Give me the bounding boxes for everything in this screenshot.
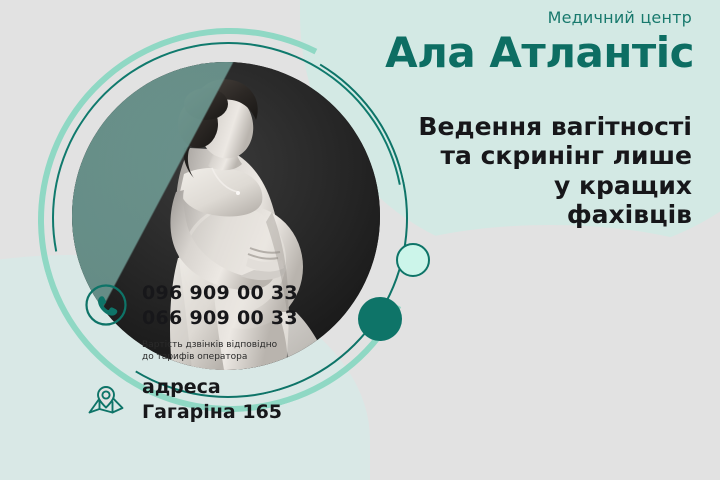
phone-number-2[interactable]: 066 909 00 33 <box>142 306 298 331</box>
headline-line-2: та скринінг лише <box>402 141 692 170</box>
headline-line-3: у кращих <box>402 171 692 200</box>
map-pin-icon <box>84 375 132 427</box>
kicker-text: Медичний центр <box>548 8 692 27</box>
address-label: адреса <box>142 375 282 400</box>
decor-dot-solid <box>358 297 402 341</box>
phone-fineprint: Вартість дзвінків відповідно до тарифів … <box>142 339 298 363</box>
address-text: адреса Гагаріна 165 <box>132 375 282 425</box>
headline: Ведення вагітності та скринінг лише у кр… <box>402 112 692 229</box>
phone-text: 096 909 00 33 066 909 00 33 Вартість дзв… <box>132 281 298 363</box>
address-block[interactable]: адреса Гагаріна 165 <box>84 375 282 427</box>
headline-line-1: Ведення вагітності <box>402 112 692 141</box>
advertisement-banner: Медичний центр Ала Атлантіс Ведення вагі… <box>0 0 720 480</box>
fineprint-line-2: до тарифів оператора <box>142 351 298 363</box>
phone-number-1[interactable]: 096 909 00 33 <box>142 281 298 306</box>
phone-circle-icon <box>84 281 132 331</box>
brand-title: Ала Атлантіс <box>385 28 694 77</box>
fineprint-line-1: Вартість дзвінків відповідно <box>142 339 298 351</box>
headline-line-4: фахівців <box>402 200 692 229</box>
address-street: Гагаріна 165 <box>142 400 282 425</box>
content-column: Медичний центр Ала Атлантіс Ведення вагі… <box>400 0 704 480</box>
phone-block[interactable]: 096 909 00 33 066 909 00 33 Вартість дзв… <box>84 281 298 363</box>
